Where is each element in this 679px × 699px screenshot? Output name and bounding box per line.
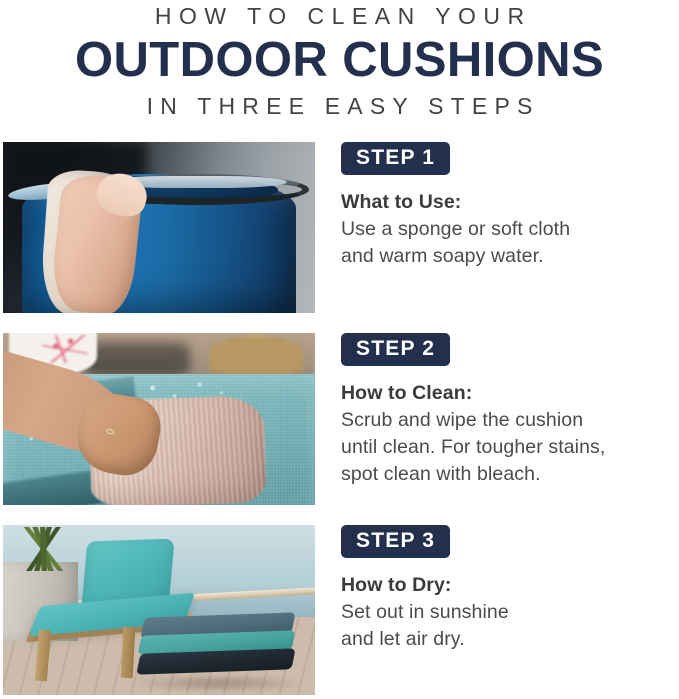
page-title: OUTDOOR CUSHIONS: [0, 32, 679, 89]
step-3-body: Set out in sunshine and let air dry.: [341, 599, 679, 653]
step-2-photo: [3, 333, 315, 505]
woven-basket: [209, 336, 303, 374]
step-1-badge: STEP 1: [341, 142, 450, 175]
step-2-badge: STEP 2: [341, 333, 450, 366]
step-1-heading: What to Use:: [341, 189, 679, 216]
step-2-body-line-3: spot clean with bleach.: [341, 461, 679, 488]
step-1-text: STEP 1 What to Use: Use a sponge or soft…: [341, 142, 679, 313]
step-3-badge: STEP 3: [341, 525, 450, 558]
step-row-2: STEP 2 How to Clean: Scrub and wipe the …: [0, 333, 679, 505]
stacked-cushion-dark: [136, 649, 296, 675]
step-3-photo: [3, 525, 315, 695]
agave-plant: [6, 527, 81, 571]
step-2-heading: How to Clean:: [341, 380, 679, 407]
step-2-text: STEP 2 How to Clean: Scrub and wipe the …: [341, 333, 679, 505]
step-2-body-line-1: Scrub and wipe the cushion: [341, 407, 679, 434]
chaise-leg-mid: [120, 627, 135, 679]
step-3-body-line-2: and let air dry.: [341, 626, 679, 653]
step-1-body: Use a sponge or soft cloth and warm soap…: [341, 216, 679, 270]
blurred-furniture: [84, 342, 190, 376]
stacked-cushions: [140, 615, 296, 680]
step-3-heading: How to Dry:: [341, 572, 679, 599]
page-header: HOW TO CLEAN YOUR OUTDOOR CUSHIONS IN TH…: [0, 0, 679, 120]
step-2-body-line-2: until clean. For tougher stains,: [341, 434, 679, 461]
header-subtitle: IN THREE EASY STEPS: [0, 92, 679, 120]
step-1-body-line-1: Use a sponge or soft cloth: [341, 216, 679, 243]
step-3-text: STEP 3 How to Dry: Set out in sunshine a…: [341, 525, 679, 695]
step-1-body-line-2: and warm soapy water.: [341, 243, 679, 270]
step-1-photo: [3, 142, 315, 313]
step-3-body-line-1: Set out in sunshine: [341, 599, 679, 626]
step-2-body: Scrub and wipe the cushion until clean. …: [341, 407, 679, 488]
header-kicker: HOW TO CLEAN YOUR: [0, 2, 679, 30]
step-row-1: STEP 1 What to Use: Use a sponge or soft…: [0, 142, 679, 313]
step-row-3: STEP 3 How to Dry: Set out in sunshine a…: [0, 525, 679, 695]
